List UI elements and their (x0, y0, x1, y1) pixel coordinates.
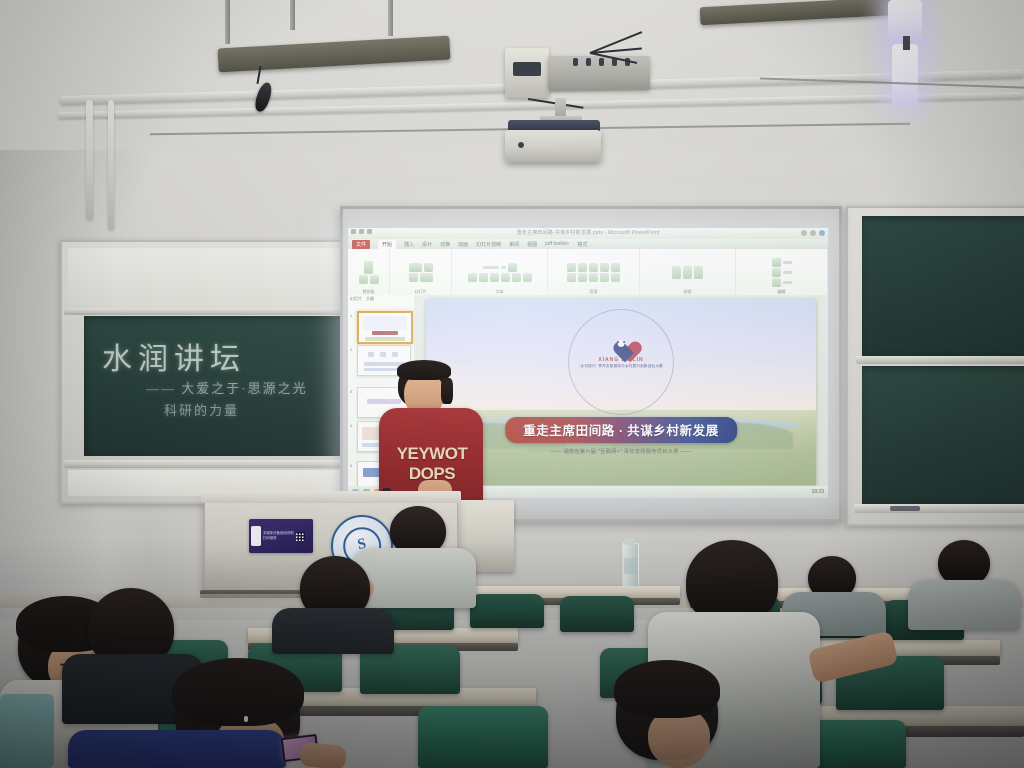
align-left-icon[interactable] (567, 273, 576, 282)
seat (560, 596, 634, 632)
bold-icon[interactable] (468, 273, 477, 282)
ribbon-group-paragraph[interactable]: 段落 (548, 249, 640, 295)
underline-icon[interactable] (490, 273, 499, 282)
current-slide[interactable]: XIANG LU LIN "乡村振兴" 青年志愿服务与乡村振兴创新创业大赛 重走… (426, 299, 816, 485)
tab-format[interactable]: 格式 (577, 241, 587, 248)
chalkboard-subline-1: —— 大爱之于·思源之光 (146, 378, 308, 397)
strikethrough-icon[interactable] (512, 273, 521, 282)
increase-font-icon[interactable] (508, 263, 517, 272)
new-slide-icon[interactable] (409, 263, 422, 272)
thumbnail-slide-1[interactable] (357, 311, 413, 344)
right-board-chalk-tray (854, 504, 1024, 513)
chalkboard-headline: 水润讲坛 (102, 334, 246, 378)
select-icon[interactable] (772, 278, 781, 287)
event-logo: XIANG LU LIN "乡村振兴" 青年志愿服务与乡村振兴创新创业大赛 (579, 333, 663, 369)
replace-label[interactable] (783, 271, 792, 274)
arrange-icon[interactable] (683, 266, 692, 279)
ribbon-group-drawing[interactable]: 绘图 (640, 249, 736, 295)
layout-icon[interactable] (424, 263, 433, 272)
right-board-frame (846, 206, 1024, 526)
paste-icon[interactable] (364, 261, 373, 274)
font-family-select[interactable] (483, 266, 499, 269)
chalk-eraser (890, 506, 920, 511)
ribbon[interactable]: 剪贴板 幻灯片 字体 段落 绘图 (348, 249, 828, 296)
find-icon[interactable] (772, 258, 781, 267)
student-3-shirt (68, 730, 286, 768)
numbering-icon[interactable] (578, 263, 587, 272)
classroom-photo: 水润讲坛 —— 大爱之于·思源之光 科研的力量 重走主席田间路·共谋乡村新发展.… (0, 0, 1024, 768)
person-pictogram-icon (251, 526, 261, 546)
console-top (201, 491, 461, 503)
right-board-rail (856, 356, 1024, 364)
tote-bag (0, 694, 54, 768)
font-size-select[interactable] (501, 266, 506, 269)
increase-indent-icon[interactable] (600, 263, 609, 272)
pane-tabs[interactable]: 幻灯片 大纲 (350, 296, 374, 302)
ribbon-group-editing[interactable]: 编辑 (736, 249, 828, 295)
left-board-upper-panel (68, 248, 344, 306)
chalkboard-subline-2: 科研的力量 (164, 400, 239, 419)
columns-icon[interactable] (611, 273, 620, 282)
shapes-icon[interactable] (672, 266, 681, 279)
reset-icon[interactable] (409, 273, 418, 282)
tab-transitions[interactable]: 切换 (440, 241, 450, 248)
logo-chinese-text: "乡村振兴" 青年志愿服务与乡村振兴创新创业大赛 (579, 364, 663, 369)
heart-logo-icon (608, 333, 634, 356)
find-label[interactable] (783, 261, 792, 264)
tab-slides[interactable]: 幻灯片 (350, 296, 362, 302)
thumbnail-number: 2 (350, 347, 352, 352)
tab-pdf-toolkit[interactable]: pdf toolkit+ (545, 241, 569, 247)
sticker-text-line-2: 扫码报修 (263, 536, 294, 541)
line-spacing-icon[interactable] (611, 263, 620, 272)
wall-conduit-pipe (108, 100, 114, 230)
seat (418, 706, 548, 768)
tab-slideshow[interactable]: 幻灯片放映 (476, 241, 501, 248)
qr-code (296, 532, 305, 541)
shadow-icon[interactable] (501, 273, 510, 282)
slide-title: 重走主席田间路 · 共谋乡村新发展 (523, 424, 719, 438)
quick-styles-icon[interactable] (694, 266, 703, 279)
minimize-icon[interactable] (801, 230, 807, 236)
thumbnail-number: 1 (350, 313, 352, 318)
ribbon-group-font[interactable]: 字体 (452, 249, 548, 295)
taskbar-clock: 18:23 (811, 489, 824, 495)
slide-title-banner: 重走主席田间路 · 共谋乡村新发展 (505, 417, 737, 443)
water-bottle (622, 543, 639, 587)
thumbnail-number: 5 (350, 463, 352, 468)
logo-eye (623, 341, 625, 343)
restore-icon[interactable] (810, 230, 816, 236)
window-buttons[interactable] (801, 230, 825, 236)
ribbon-group-slides[interactable]: 幻灯片 (390, 249, 452, 295)
section-icon[interactable] (420, 273, 433, 282)
align-center-icon[interactable] (578, 273, 587, 282)
thumbnail-number: 3 (350, 389, 352, 394)
ppt-title-text: 重走主席田间路·共谋乡村新发展.pptx - Microsoft PowerPo… (517, 229, 660, 236)
bullets-icon[interactable] (567, 263, 576, 272)
tab-insert[interactable]: 插入 (404, 241, 414, 248)
thumbnail-number: 4 (350, 423, 352, 428)
close-icon[interactable] (819, 230, 825, 236)
tshirt-text-line-1: YEYWOT (389, 444, 475, 464)
right-chalkboard-upper (862, 216, 1024, 356)
font-color-icon[interactable] (523, 273, 532, 282)
save-icon[interactable] (351, 229, 356, 234)
board-chalk-tray (64, 460, 348, 468)
tab-design[interactable]: 设计 (422, 241, 432, 248)
tab-outline[interactable]: 大纲 (366, 296, 374, 302)
bottle-cap (624, 538, 635, 545)
justify-icon[interactable] (600, 273, 609, 282)
slide-subtitle: —— 湖南省第六届 "互联网+" 青年志愿服务项目大赛 —— (551, 448, 692, 455)
cut-icon[interactable] (359, 275, 368, 284)
tab-file[interactable]: 文件 (352, 240, 370, 249)
earbud (244, 716, 248, 722)
copy-icon[interactable] (370, 275, 379, 284)
tab-animations[interactable]: 动画 (458, 241, 468, 248)
redo-icon[interactable] (367, 229, 372, 234)
wall-conduit-pipe (86, 100, 93, 220)
undo-icon[interactable] (359, 229, 364, 234)
left-chalkboard: 水润讲坛 —— 大爱之于·思源之光 科研的力量 (84, 316, 346, 456)
tab-view[interactable]: 视图 (527, 241, 537, 248)
decrease-indent-icon[interactable] (589, 263, 598, 272)
tab-home[interactable]: 开始 (378, 240, 396, 249)
tab-review[interactable]: 审阅 (509, 241, 519, 248)
left-board-frame: 水润讲坛 —— 大爱之于·思源之光 科研的力量 (60, 240, 354, 504)
italic-icon[interactable] (479, 273, 488, 282)
ribbon-tabs[interactable]: 文件 开始 插入 设计 切换 动画 幻灯片放映 审阅 视图 pdf toolki… (348, 239, 828, 249)
board-rail (64, 308, 348, 315)
replace-icon[interactable] (772, 268, 781, 277)
align-right-icon[interactable] (589, 273, 598, 282)
right-chalkboard-lower (862, 366, 1024, 504)
logo-eye (617, 341, 619, 343)
ribbon-group-clipboard[interactable]: 剪贴板 (348, 249, 390, 295)
seat (470, 594, 544, 628)
console-instruction-sticker: 多媒体设备使用说明 扫码报修 (249, 519, 313, 553)
select-label[interactable] (783, 281, 792, 284)
quick-access-toolbar[interactable] (351, 229, 372, 234)
